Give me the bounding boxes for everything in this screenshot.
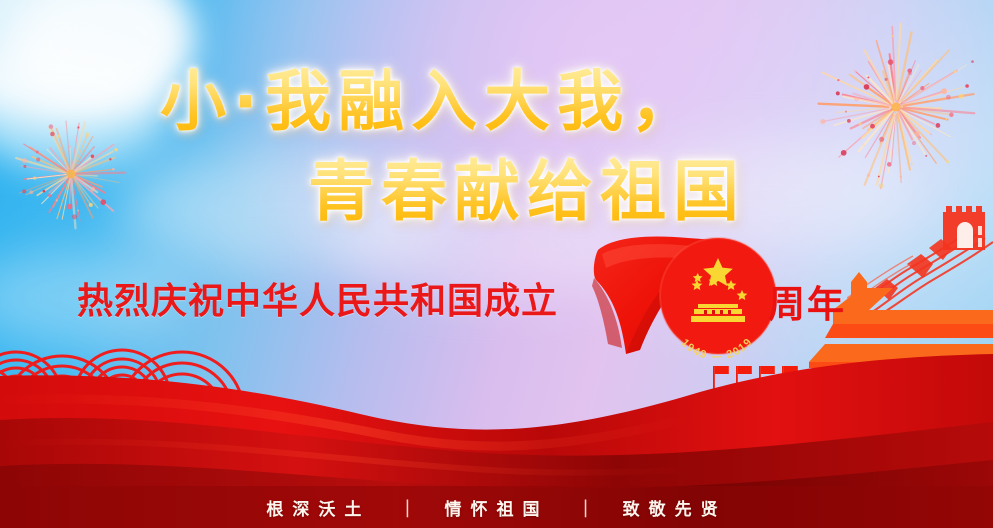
footer-separator: | [404,497,410,518]
title-line-2: 青春献给祖国 [308,138,746,234]
celebration-subtitle: 热烈庆祝中华人民共和国成立 [77,272,558,324]
title-block: 小·我融入大我， 青春献给祖国 [0,26,993,206]
footer-bar: 根深沃土 | 情怀祖国 | 致敬先贤 [0,486,993,528]
seventy-anniversary-emblem: 1949 — 2019 [592,232,782,364]
footer-item-1: 根深沃土 [266,495,370,520]
title-line-1: 小·我融入大我， [160,48,703,144]
footer-item-2: 情怀祖国 [445,495,549,520]
footer-separator: | [583,497,589,518]
anniversary-suffix: 周年 [768,274,846,328]
footer-item-3: 致敬先贤 [623,495,727,520]
national-day-poster: 1949 — 2019 小·我融入大我， 青春献给祖国 热烈庆祝中华人民共和国成… [0,0,993,528]
